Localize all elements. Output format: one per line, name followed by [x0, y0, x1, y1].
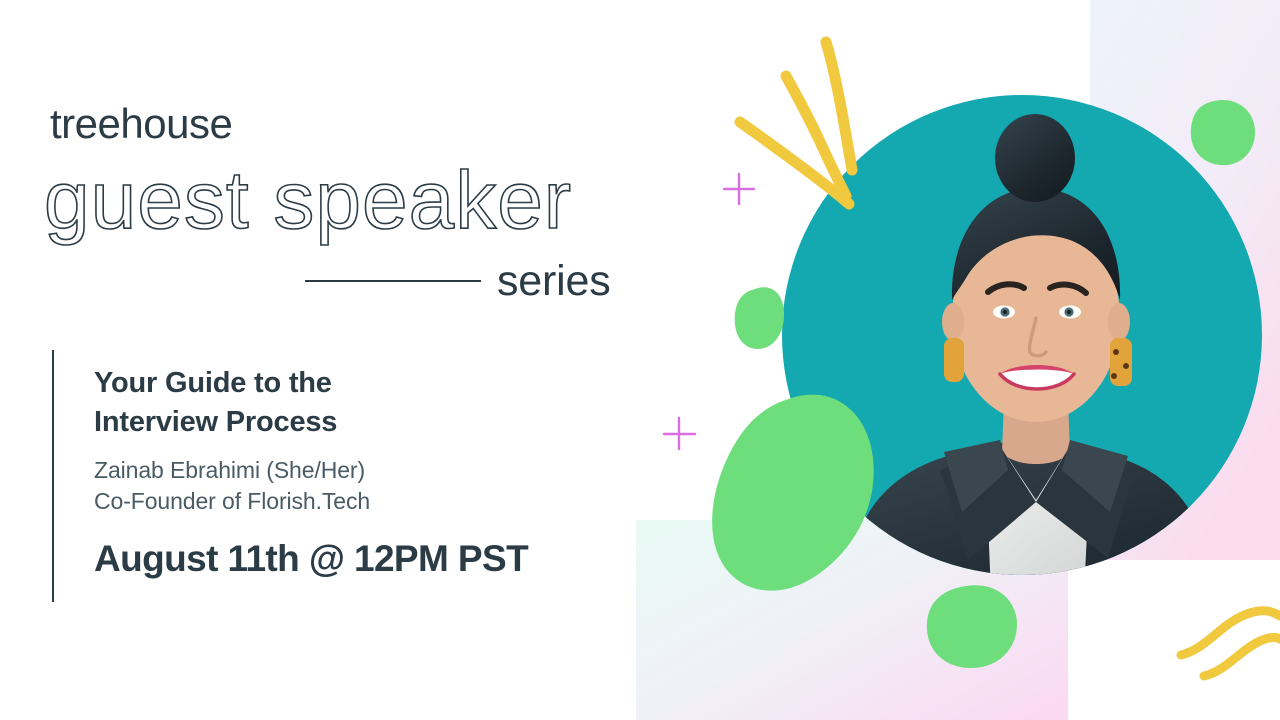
- talk-title: Your Guide to the Interview Process: [94, 364, 528, 441]
- event-info-block: Your Guide to the Interview Process Zain…: [52, 350, 528, 602]
- series-row: series: [305, 255, 635, 307]
- headline-guest-speaker: guest speaker: [44, 160, 572, 242]
- speaker-role: Co-Founder of Florish.Tech: [94, 486, 528, 516]
- yellow-wavy-strokes: [1181, 611, 1280, 676]
- speaker-name: Zainab Ebrahimi (She/Her): [94, 455, 528, 485]
- series-divider-rule: [305, 280, 481, 282]
- promo-slide: treehouse guest speaker series Your Guid…: [0, 0, 1280, 720]
- brand-name: treehouse: [50, 103, 232, 145]
- series-label: series: [497, 260, 611, 303]
- event-date-time: August 11th @ 12PM PST: [94, 539, 528, 580]
- left-text-column: treehouse guest speaker series Your Guid…: [0, 0, 660, 720]
- yellow-sparkle-strokes: [740, 42, 852, 204]
